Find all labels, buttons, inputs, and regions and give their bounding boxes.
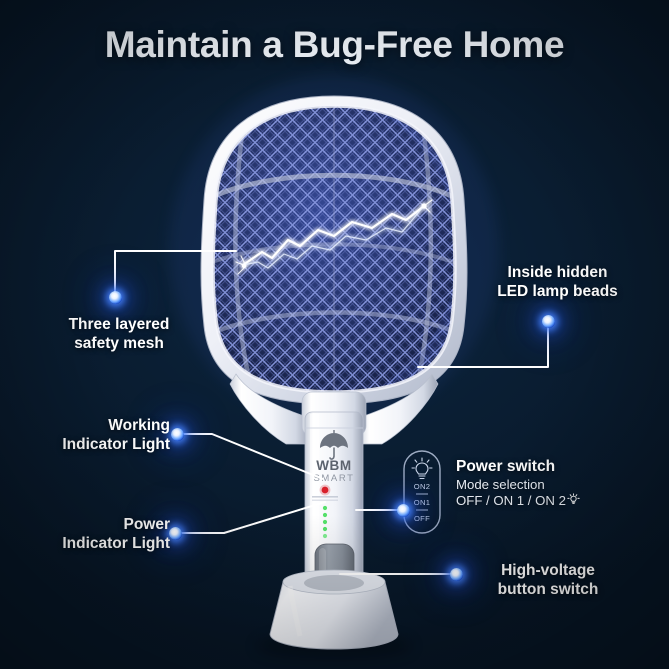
callout-working-line1: Working xyxy=(12,417,170,436)
power-switch-modes-text: OFF / ON 1 / ON 2 xyxy=(456,493,566,508)
callout-power-line2: Indicator Light xyxy=(12,535,170,554)
power-switch-title: Power switch xyxy=(456,458,666,477)
power-switch-text-block: Power switch Mode selection OFF / ON 1 /… xyxy=(456,458,666,511)
callout-label-high-voltage-button-switch: High-voltage button switch xyxy=(448,562,648,600)
power-switch-diagram[interactable]: ON2 ON1 OFF xyxy=(404,451,440,533)
callout-dot-led[interactable] xyxy=(542,315,555,328)
callout-dot-working[interactable] xyxy=(171,428,184,441)
callout-hv-line2: button switch xyxy=(448,581,648,600)
switch-position-off: OFF xyxy=(414,514,430,523)
callout-dot-power-switch[interactable] xyxy=(397,504,410,517)
page-title: Maintain a Bug-Free Home xyxy=(0,24,669,66)
callout-mesh-line1: Three layered xyxy=(24,316,214,335)
power-switch-modes-lamp-icon xyxy=(567,493,580,511)
infographic-canvas: WBM SMART xyxy=(0,0,669,669)
callout-led-line2: LED lamp beads xyxy=(470,283,645,302)
lamp-icon xyxy=(412,458,432,479)
brand-name: WBM xyxy=(316,458,352,473)
callout-power-line1: Power xyxy=(12,516,170,535)
callout-mesh-line2: safety mesh xyxy=(24,335,214,354)
callout-hv-line1: High-voltage xyxy=(448,562,648,581)
connector-power xyxy=(175,502,325,533)
callout-led-line1: Inside hidden xyxy=(470,264,645,283)
power-switch-modes: OFF / ON 1 / ON 2 xyxy=(456,493,666,511)
switch-position-on1: ON1 xyxy=(414,498,431,507)
power-switch-subtitle: Mode selection xyxy=(456,477,666,494)
callout-dot-mesh[interactable] xyxy=(109,291,122,304)
callout-label-power-indicator-light: Power Indicator Light xyxy=(12,516,170,554)
callout-label-working-indicator-light: Working Indicator Light xyxy=(12,417,170,455)
switch-position-on2: ON2 xyxy=(414,482,431,491)
callout-label-three-layered-safety-mesh: Three layered safety mesh xyxy=(24,316,214,354)
callout-working-line2: Indicator Light xyxy=(12,436,170,455)
charging-base xyxy=(256,570,412,659)
callout-label-inside-hidden-led-lamp-beads: Inside hidden LED lamp beads xyxy=(470,264,645,302)
callout-dot-power[interactable] xyxy=(169,527,182,540)
